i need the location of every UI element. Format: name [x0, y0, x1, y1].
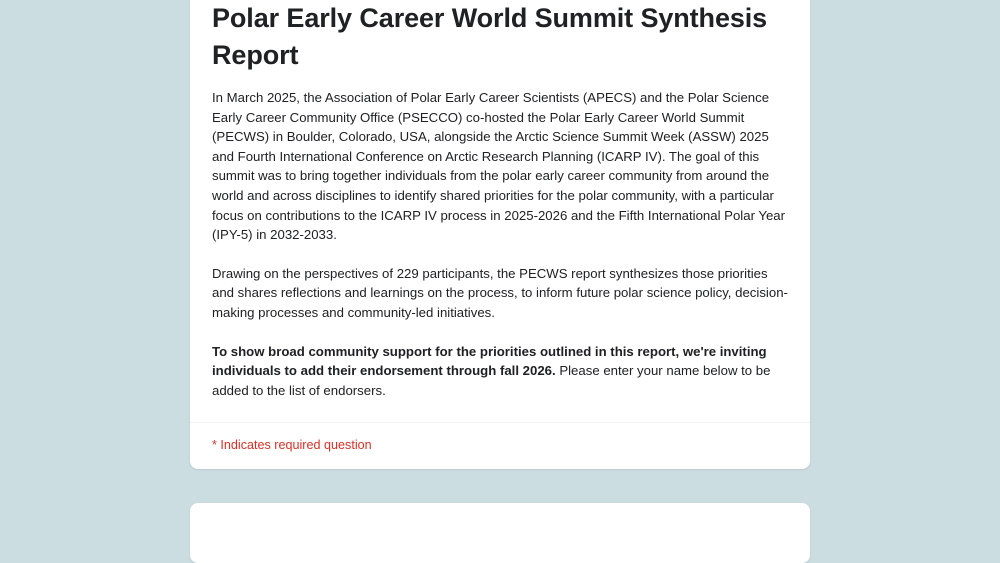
description-paragraph-1: In March 2025, the Association of Polar … — [212, 88, 788, 245]
next-question-card[interactable] — [190, 503, 810, 563]
form-header-card-body: Polar Early Career World Summit Synthesi… — [190, 0, 810, 422]
page-title: Polar Early Career World Summit Synthesi… — [212, 0, 788, 74]
form-header-card: Polar Early Career World Summit Synthesi… — [190, 0, 810, 469]
required-question-note: * Indicates required question — [190, 423, 810, 469]
form-description: In March 2025, the Association of Polar … — [212, 88, 788, 400]
description-paragraph-2: Drawing on the perspectives of 229 parti… — [212, 264, 788, 323]
form-page: Polar Early Career World Summit Synthesi… — [0, 0, 1000, 525]
description-paragraph-3: To show broad community support for the … — [212, 342, 788, 401]
